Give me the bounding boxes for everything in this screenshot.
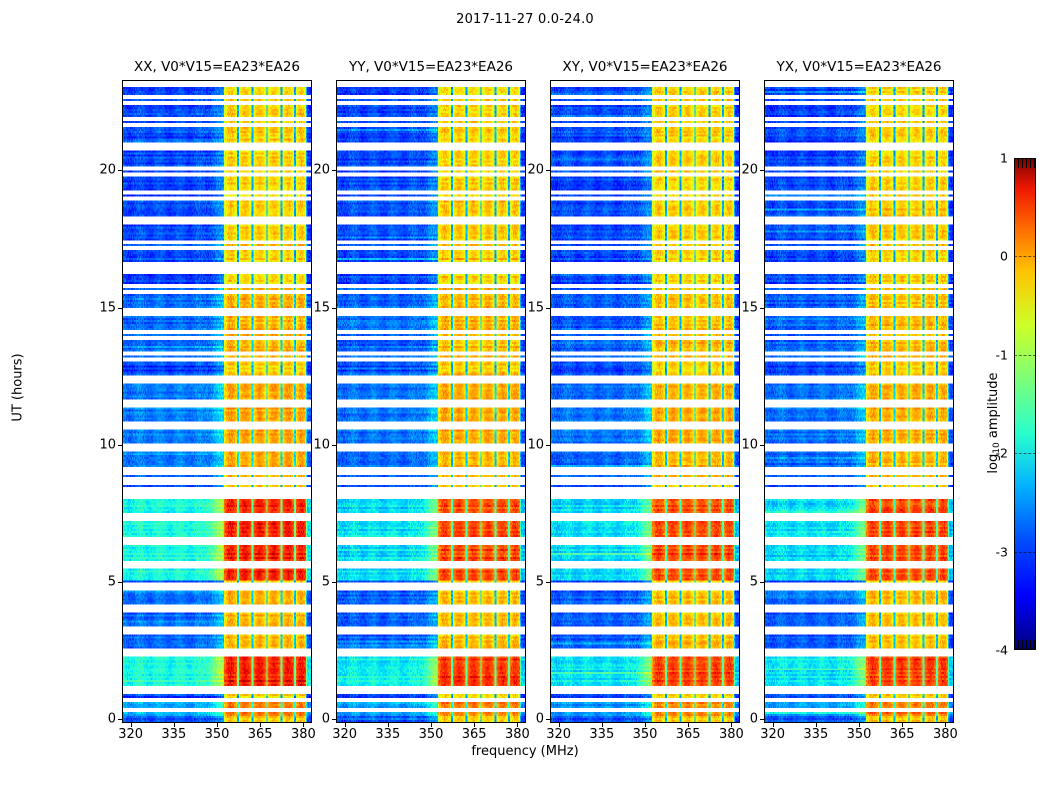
panel-title-xx: XX, V0*V15=EA23*EA26 xyxy=(122,59,312,75)
x-tick-mark xyxy=(816,723,817,727)
y-tick-label: 15 xyxy=(80,300,116,315)
x-tick-label: 320 xyxy=(546,727,571,742)
x-tick-label: 350 xyxy=(205,727,230,742)
colorbar-tick-label: 0 xyxy=(968,249,1008,264)
x-tick-mark xyxy=(260,723,261,727)
y-tick-mark xyxy=(546,308,550,309)
x-tick-label: 320 xyxy=(332,727,357,742)
x-tick-mark xyxy=(131,723,132,727)
x-axis-label: frequency (MHz) xyxy=(0,744,1050,759)
x-tick-mark xyxy=(688,723,689,727)
colorbar-top-cap xyxy=(1014,159,1036,168)
panel-title-yy: YY, V0*V15=EA23*EA26 xyxy=(336,59,526,75)
y-tick-mark xyxy=(332,582,336,583)
x-tick-label: 380 xyxy=(291,727,316,742)
y-tick-label: 10 xyxy=(508,437,544,452)
spectrum-panel-yx xyxy=(764,80,954,723)
y-tick-mark xyxy=(118,582,122,583)
x-tick-mark xyxy=(945,723,946,727)
x-tick-label: 365 xyxy=(462,727,487,742)
x-tick-mark xyxy=(602,723,603,727)
y-tick-label: 20 xyxy=(80,163,116,178)
dynamic-spectrum-image xyxy=(123,81,311,722)
y-tick-label: 0 xyxy=(80,711,116,726)
colorbar-label-main: log xyxy=(986,454,1001,474)
y-tick-label: 20 xyxy=(722,163,758,178)
y-tick-label: 20 xyxy=(508,163,544,178)
x-tick-mark xyxy=(217,723,218,727)
x-tick-label: 335 xyxy=(161,727,186,742)
y-tick-mark xyxy=(332,719,336,720)
y-tick-label: 10 xyxy=(80,437,116,452)
colorbar-tick-label: 1 xyxy=(968,151,1008,166)
y-tick-mark xyxy=(118,445,122,446)
x-tick-label: 365 xyxy=(676,727,701,742)
x-tick-mark xyxy=(859,723,860,727)
y-tick-label: 0 xyxy=(294,711,330,726)
x-tick-mark xyxy=(645,723,646,727)
dynamic-spectrum-image xyxy=(551,81,739,722)
y-tick-mark xyxy=(118,719,122,720)
y-tick-label: 5 xyxy=(722,574,758,589)
x-tick-label: 350 xyxy=(419,727,444,742)
x-tick-mark xyxy=(174,723,175,727)
y-tick-mark xyxy=(332,170,336,171)
colorbar-tick-mark xyxy=(1014,355,1036,356)
y-tick-label: 10 xyxy=(722,437,758,452)
x-tick-mark xyxy=(431,723,432,727)
y-tick-label: 15 xyxy=(508,300,544,315)
y-tick-mark xyxy=(118,308,122,309)
spectrum-panel-xy xyxy=(550,80,740,723)
y-axis-label: UT (hours) xyxy=(11,308,26,468)
spectrum-panel-yy xyxy=(336,80,526,723)
x-tick-mark xyxy=(345,723,346,727)
y-tick-mark xyxy=(760,308,764,309)
y-tick-label: 5 xyxy=(294,574,330,589)
colorbar-tick-mark xyxy=(1014,552,1036,553)
y-tick-mark xyxy=(760,719,764,720)
y-tick-label: 0 xyxy=(722,711,758,726)
dynamic-spectrum-image xyxy=(765,81,953,722)
colorbar-tick-mark xyxy=(1014,453,1036,454)
colorbar-label: log10 amplitude xyxy=(986,333,1002,513)
spectrum-panel-xx xyxy=(122,80,312,723)
y-tick-mark xyxy=(760,582,764,583)
y-tick-label: 0 xyxy=(508,711,544,726)
x-tick-label: 365 xyxy=(890,727,915,742)
colorbar xyxy=(1014,158,1036,650)
y-tick-label: 20 xyxy=(294,163,330,178)
x-tick-mark xyxy=(773,723,774,727)
y-tick-mark xyxy=(118,170,122,171)
x-tick-mark xyxy=(559,723,560,727)
y-tick-label: 15 xyxy=(294,300,330,315)
x-tick-label: 320 xyxy=(760,727,785,742)
y-tick-mark xyxy=(546,582,550,583)
x-tick-mark xyxy=(902,723,903,727)
y-tick-mark xyxy=(332,308,336,309)
x-tick-label: 380 xyxy=(719,727,744,742)
dynamic-spectrum-image xyxy=(337,81,525,722)
y-tick-label: 15 xyxy=(722,300,758,315)
x-tick-mark xyxy=(388,723,389,727)
panel-title-xy: XY, V0*V15=EA23*EA26 xyxy=(550,59,740,75)
colorbar-label-subscript: 10 xyxy=(992,442,1002,453)
colorbar-tick-label: -4 xyxy=(968,643,1008,658)
x-tick-mark xyxy=(474,723,475,727)
x-tick-label: 380 xyxy=(933,727,958,742)
x-tick-label: 320 xyxy=(118,727,143,742)
x-tick-label: 380 xyxy=(505,727,530,742)
colorbar-label-tail: amplitude xyxy=(986,372,1001,442)
y-tick-label: 5 xyxy=(80,574,116,589)
y-tick-mark xyxy=(760,445,764,446)
x-tick-label: 335 xyxy=(803,727,828,742)
colorbar-tick-label: -3 xyxy=(968,544,1008,559)
x-tick-label: 350 xyxy=(633,727,658,742)
colorbar-bottom-cap xyxy=(1014,640,1036,649)
y-tick-mark xyxy=(546,445,550,446)
x-tick-label: 335 xyxy=(375,727,400,742)
colorbar-tick-mark xyxy=(1014,256,1036,257)
x-tick-label: 335 xyxy=(589,727,614,742)
y-tick-label: 5 xyxy=(508,574,544,589)
y-tick-mark xyxy=(546,719,550,720)
y-tick-label: 10 xyxy=(294,437,330,452)
figure-suptitle: 2017-11-27 0.0-24.0 xyxy=(0,12,1050,27)
panel-title-yx: YX, V0*V15=EA23*EA26 xyxy=(764,59,954,75)
x-tick-label: 350 xyxy=(847,727,872,742)
y-tick-mark xyxy=(332,445,336,446)
x-tick-label: 365 xyxy=(248,727,273,742)
y-tick-mark xyxy=(546,170,550,171)
y-tick-mark xyxy=(760,170,764,171)
